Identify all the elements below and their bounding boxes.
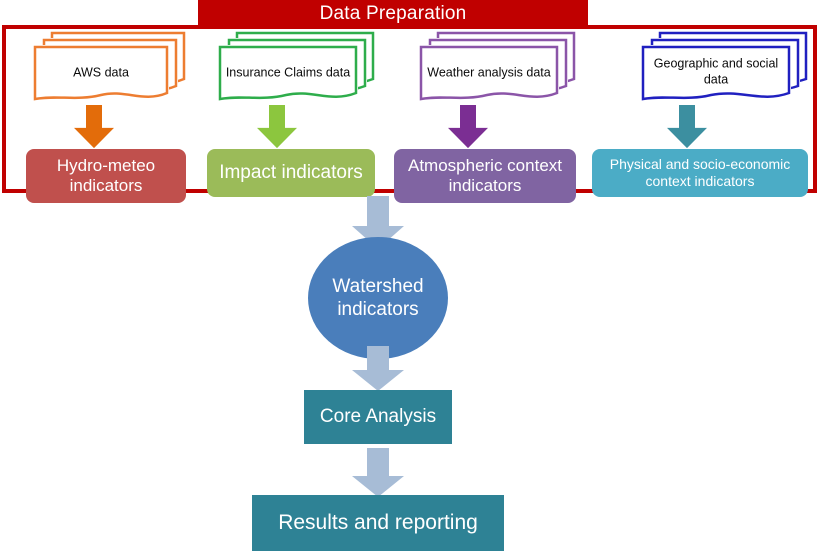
results-and-reporting-node: Results and reporting: [252, 495, 504, 551]
core-analysis-node: Core Analysis: [304, 390, 452, 444]
arrow-core-to-results: [348, 448, 408, 498]
arrow-watershed-to-core: [348, 346, 408, 392]
data-preparation-banner: Data Preparation: [198, 0, 588, 28]
diagram-canvas: Data Preparation AWS data: [0, 0, 821, 550]
flow-section: Watershed indicators Core Analysis Resul…: [0, 0, 821, 550]
watershed-indicators-node: Watershed indicators: [308, 237, 448, 359]
